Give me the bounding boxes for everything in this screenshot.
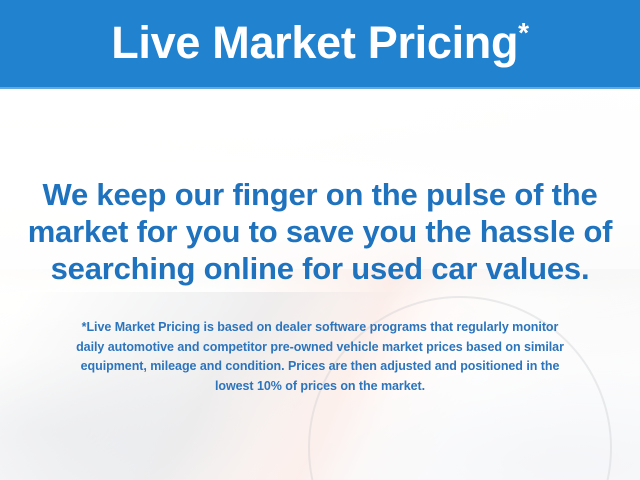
page-title-asterisk: * [518, 17, 529, 48]
headline-block: We keep our finger on the pulse of the m… [0, 176, 640, 287]
page-title: Live Market Pricing* [111, 20, 529, 65]
live-market-pricing-card: Live Market Pricing* We keep our finger … [0, 0, 640, 480]
disclaimer-block: *Live Market Pricing is based on dealer … [20, 318, 620, 396]
disclaimer-line-1: *Live Market Pricing is based on dealer … [20, 318, 620, 338]
headline-line-1: We keep our finger on the pulse of the [0, 176, 640, 213]
disclaimer-line-3: equipment, mileage and condition. Prices… [20, 357, 620, 377]
disclaimer-line-4: lowest 10% of prices on the market. [20, 377, 620, 397]
page-title-text: Live Market Pricing [111, 17, 518, 68]
header-banner: Live Market Pricing* [0, 0, 640, 89]
headline-line-2: market for you to save you the hassle of [0, 213, 640, 250]
headline-line-3: searching online for used car values. [0, 250, 640, 287]
disclaimer-line-2: daily automotive and competitor pre-owne… [20, 338, 620, 358]
